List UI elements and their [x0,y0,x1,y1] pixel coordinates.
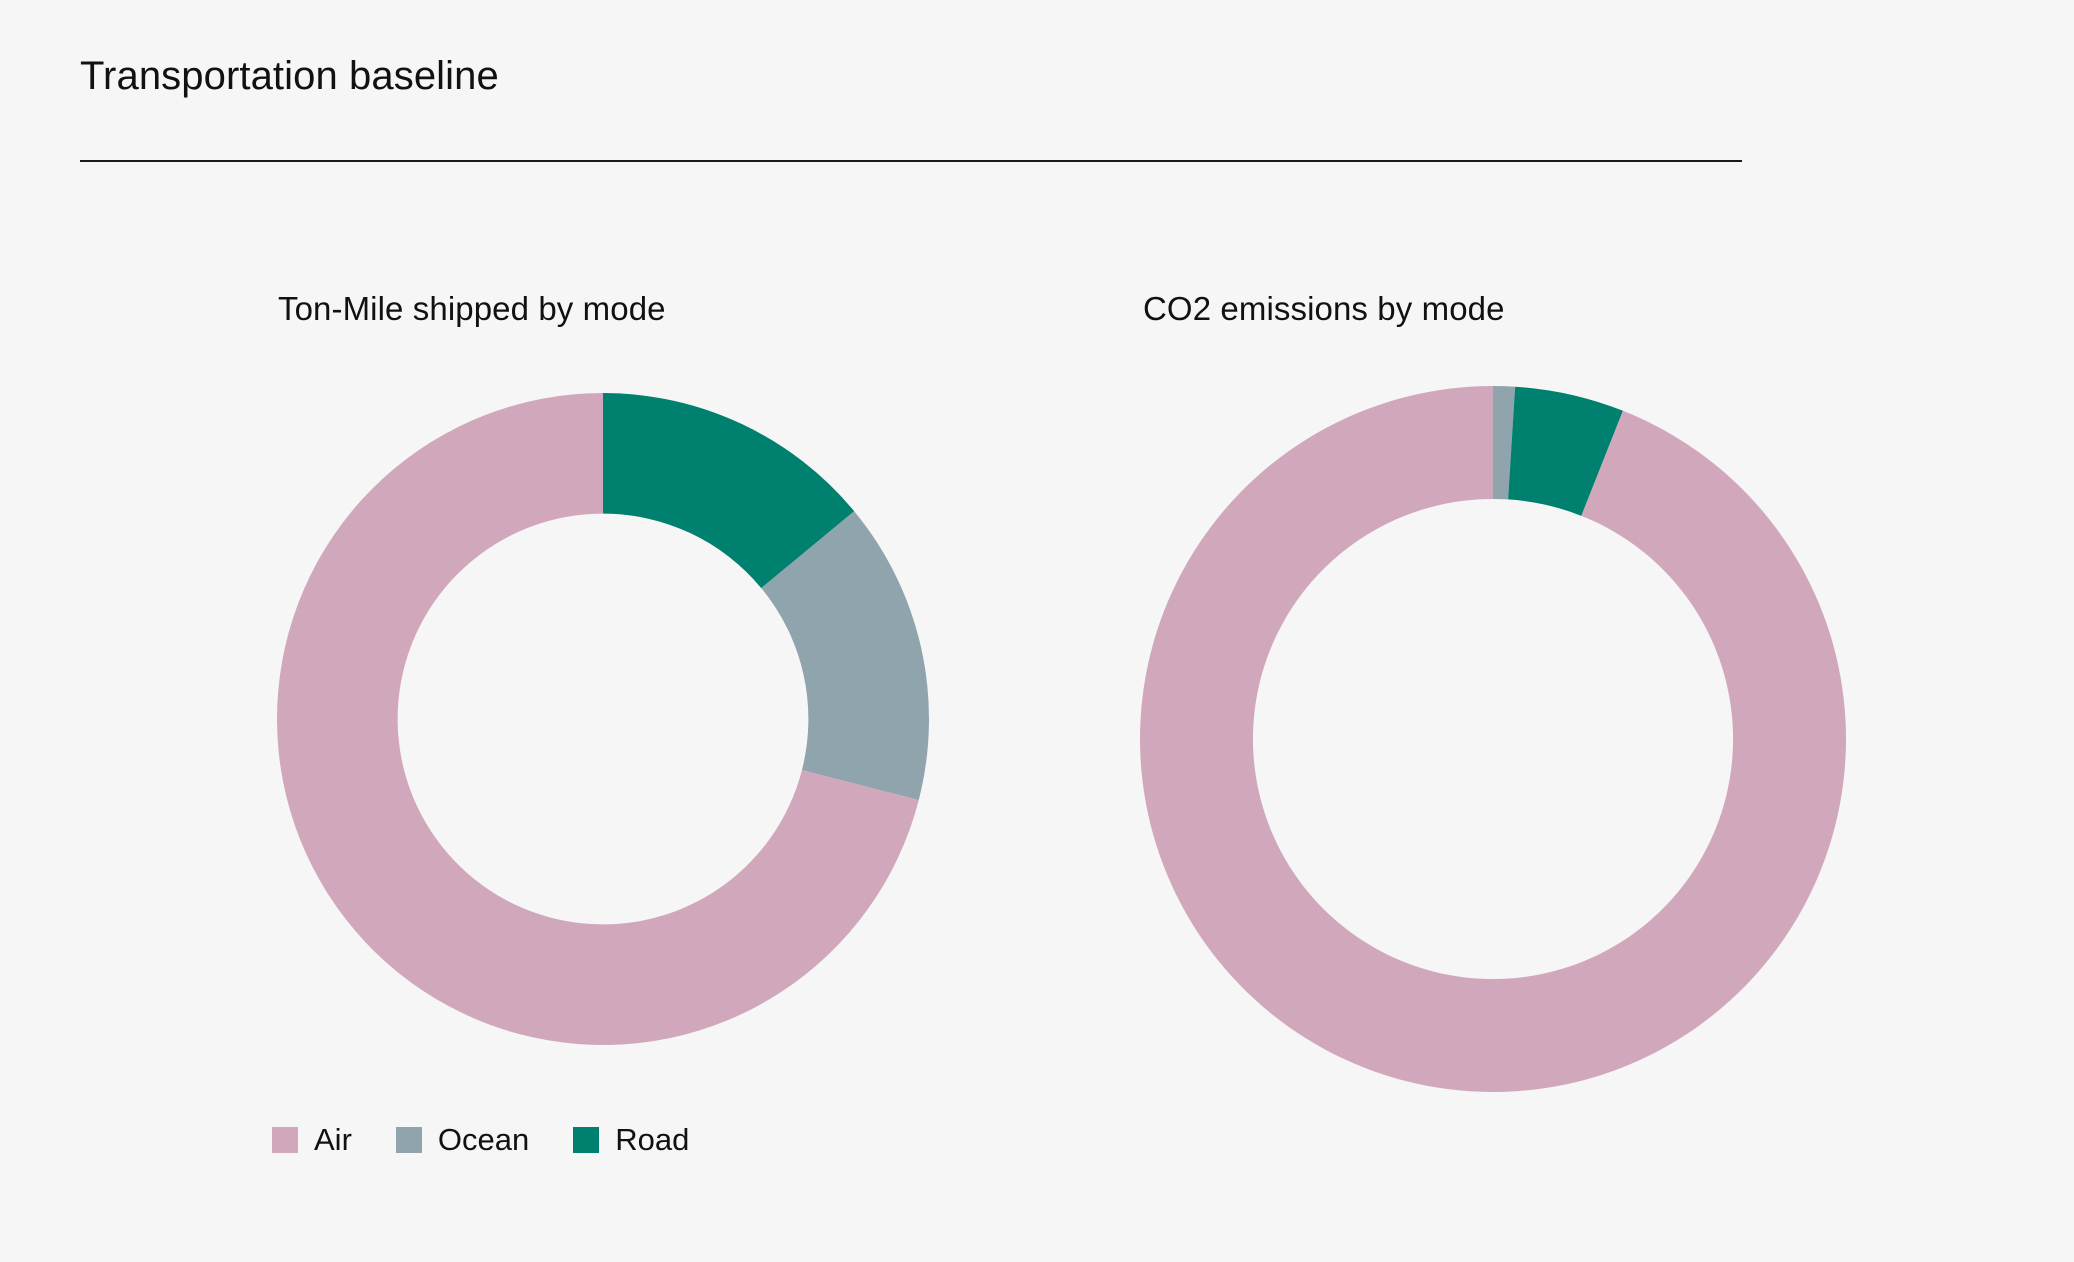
chart-title-ton-mile: Ton-Mile shipped by mode [278,290,666,328]
chart-title-co2: CO2 emissions by mode [1143,290,1505,328]
legend-item-road[interactable]: Road [573,1122,689,1158]
legend-label-road: Road [615,1122,689,1158]
legend-item-ocean[interactable]: Ocean [396,1122,529,1158]
donut-svg-co2 [1140,386,1846,1092]
donut-svg-ton-mile [277,393,929,1045]
legend-item-air[interactable]: Air [272,1122,352,1158]
chart-legend: Air Ocean Road [272,1122,733,1158]
legend-swatch-ocean [396,1127,422,1153]
donut-chart-ton-mile [277,393,929,1045]
legend-swatch-road [573,1127,599,1153]
legend-label-ocean: Ocean [438,1122,529,1158]
donut-chart-co2 [1140,386,1846,1092]
page-root: Transportation baseline Ton-Mile shipped… [0,0,2074,1262]
donut-slice-air[interactable] [1140,386,1846,1092]
legend-swatch-air [272,1127,298,1153]
legend-label-air: Air [314,1122,352,1158]
charts-container: Ton-Mile shipped by mode CO2 emissions b… [0,0,2074,1262]
